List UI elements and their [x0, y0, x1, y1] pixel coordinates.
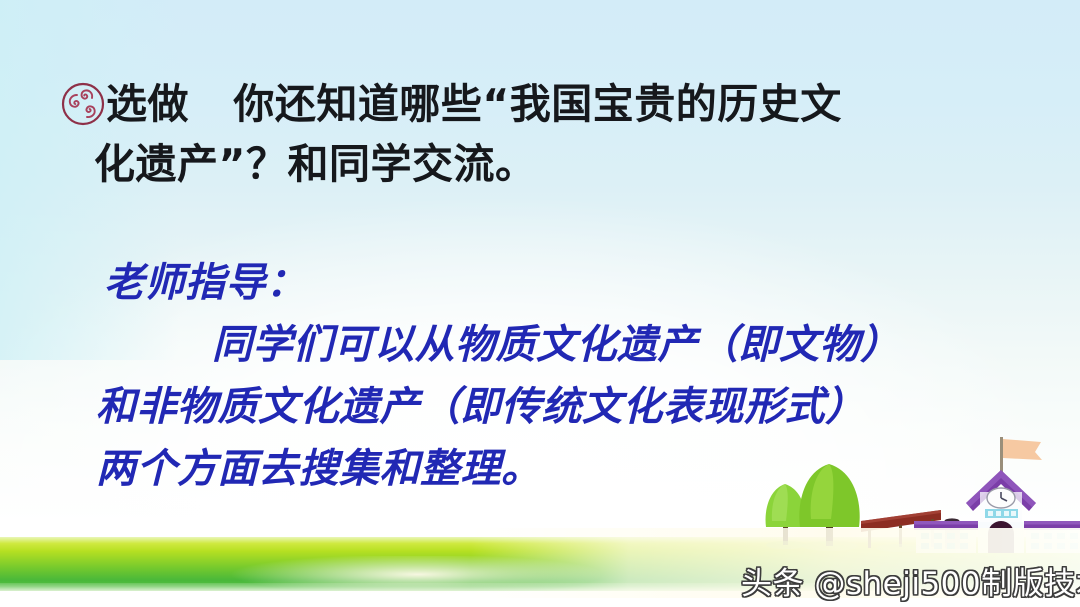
heading-line-1: 选做 你还知道哪些“我国宝贵的历史文	[58, 74, 1018, 134]
watermark-label: 头条 @sheji500制版技术	[741, 558, 1080, 603]
teacher-guidance-block: 老师指导： 同学们可以从物质文化遗产（即文物） 和非物质文化遗产（即传统文化表现…	[104, 252, 1044, 500]
guidance-line-3: 两个方面去搜集和整理。	[96, 438, 1044, 500]
heading-line-2: 化遗产”？和同学交流。	[58, 134, 1018, 194]
heading-block: 选做 你还知道哪些“我国宝贵的历史文 化遗产”？和同学交流。	[58, 74, 1018, 194]
triskelion-spiral-icon	[61, 82, 105, 126]
teacher-guidance-label: 老师指导：	[104, 252, 1044, 314]
guidance-line-2: 和非物质文化遗产（即传统文化表现形式）	[96, 376, 1044, 438]
guidance-line-1: 同学们可以从物质文化遗产（即文物）	[104, 314, 1044, 376]
slide-canvas: 选做 你还知道哪些“我国宝贵的历史文 化遗产”？和同学交流。 老师指导： 同学们…	[0, 0, 1080, 607]
ground-center-wash	[120, 556, 600, 602]
